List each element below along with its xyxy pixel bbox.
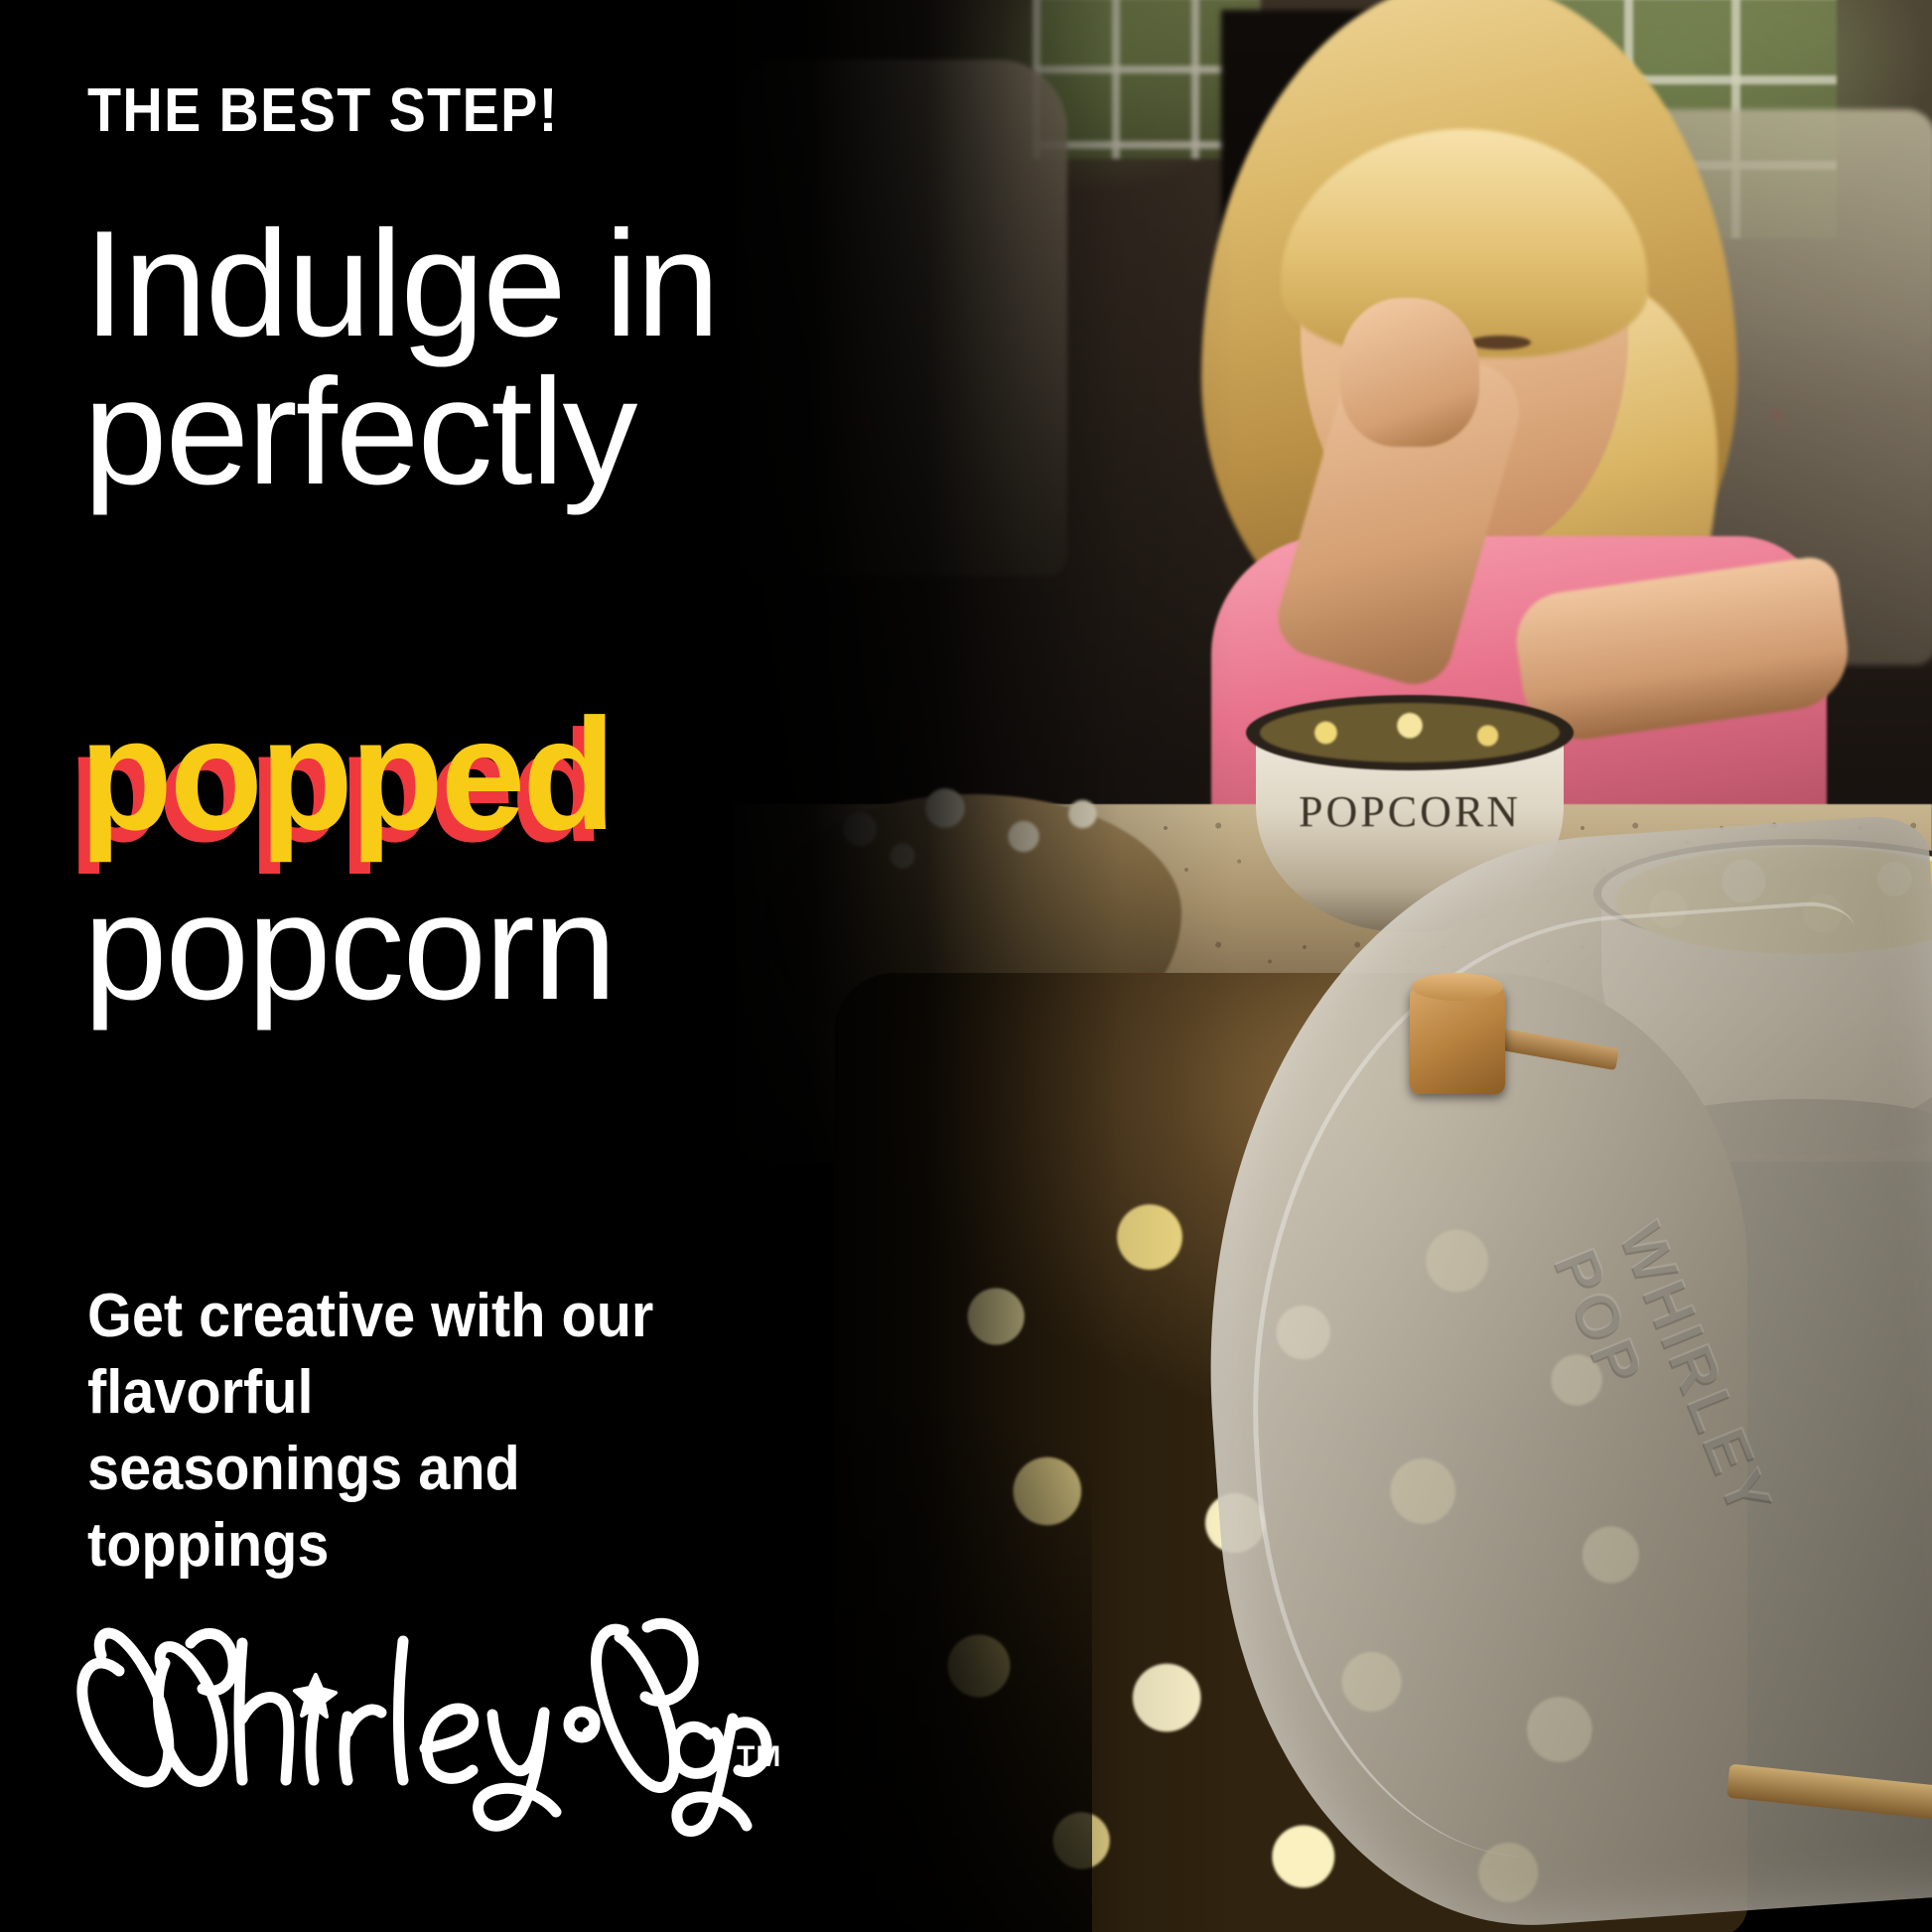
eyebrow-text: THE BEST STEP!	[87, 75, 559, 146]
headline-line-1: Indulge in	[83, 210, 818, 358]
headline-highlight-popped: popped	[79, 695, 613, 854]
tagline: Get creative with our flavorful seasonin…	[87, 1279, 734, 1585]
highlight-word-wrapper: popped	[79, 695, 814, 869]
headline-line-2: perfectly	[83, 358, 818, 506]
whirley-pop-wordmark	[62, 1593, 776, 1842]
headline: Indulge in perfectly	[83, 210, 818, 506]
advertisement-canvas: POPCORN WHIRLEY POP THE BEST STEP! Indul…	[0, 0, 1932, 1932]
whirley-pop-logo: TM	[62, 1593, 816, 1881]
trademark-mark: TM	[737, 1740, 781, 1774]
headline-line-4: popcorn	[83, 874, 818, 1022]
copy-block: THE BEST STEP! Indulge in perfectly popp…	[0, 0, 814, 1932]
tagline-line-2: seasonings and toppings	[87, 1435, 520, 1580]
tagline-line-1: Get creative with our flavorful	[87, 1282, 653, 1427]
